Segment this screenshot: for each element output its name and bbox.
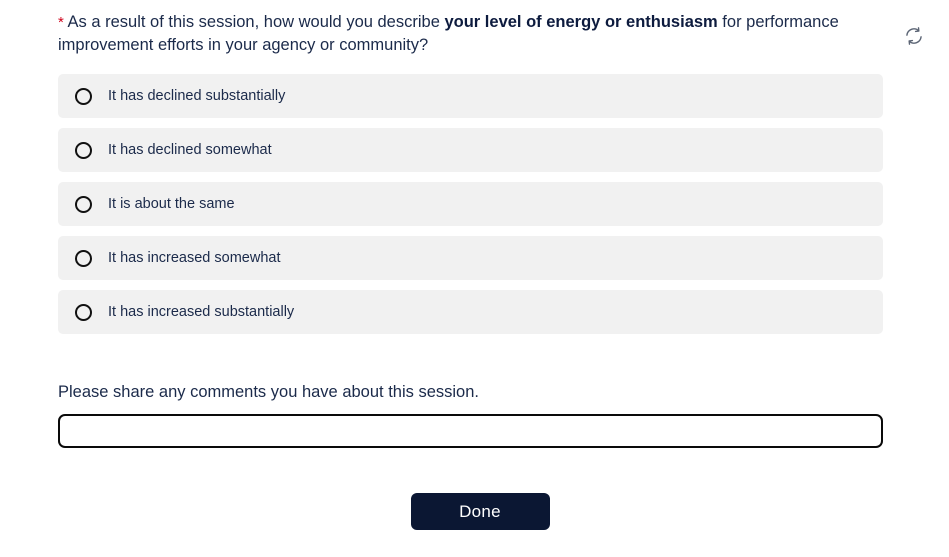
survey-page: * As a result of this session, how would… [0, 0, 949, 557]
radio-button-icon[interactable] [75, 88, 92, 105]
radio-button-icon[interactable] [75, 196, 92, 213]
comments-block: Please share any comments you have about… [58, 381, 883, 448]
option-label: It is about the same [108, 195, 235, 213]
question-text-emphasis: your level of energy or enthusiasm [444, 13, 717, 31]
radio-button-icon[interactable] [75, 250, 92, 267]
refresh-icon [904, 26, 924, 46]
option-label: It has increased somewhat [108, 249, 280, 267]
comments-label: Please share any comments you have about… [58, 381, 883, 403]
refresh-button[interactable] [898, 20, 930, 52]
option-row-increased-substantially[interactable]: It has increased substantially [58, 290, 883, 334]
option-row-about-the-same[interactable]: It is about the same [58, 182, 883, 226]
question-text-part-1: As a result of this session, how would y… [64, 13, 445, 31]
options-list: It has declined substantially It has dec… [58, 74, 883, 344]
option-row-declined-somewhat[interactable]: It has declined somewhat [58, 128, 883, 172]
option-row-increased-somewhat[interactable]: It has increased somewhat [58, 236, 883, 280]
option-row-declined-substantially[interactable]: It has declined substantially [58, 74, 883, 118]
question-block: * As a result of this session, how would… [58, 11, 858, 57]
option-label: It has declined somewhat [108, 141, 272, 159]
radio-button-icon[interactable] [75, 304, 92, 321]
option-label: It has declined substantially [108, 87, 285, 105]
option-label: It has increased substantially [108, 303, 294, 321]
submit-area: Done [0, 493, 949, 530]
comments-input[interactable] [58, 414, 883, 448]
done-button[interactable]: Done [411, 493, 550, 530]
question-text: * As a result of this session, how would… [58, 11, 858, 57]
radio-button-icon[interactable] [75, 142, 92, 159]
